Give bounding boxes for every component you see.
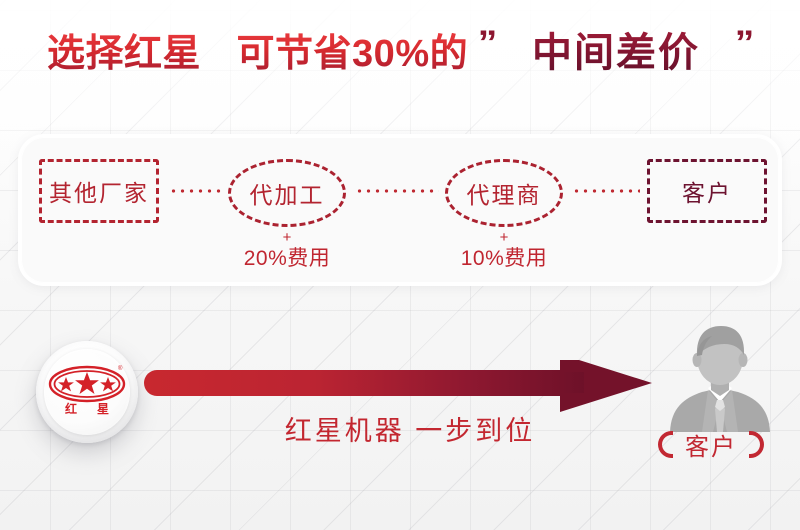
supply-chain-panel: 其他厂家 代加工 + 20%费用 代理商 + 10%费用 客户 [18,134,782,286]
headline-part2: 可节省30%的 [237,33,469,75]
headline-emphasis: 中间差价 [532,31,700,75]
supply-chain-flow: 其他厂家 代加工 + 20%费用 代理商 + 10%费用 客户 [21,137,779,283]
flow-node-other-factory: 其他厂家 [39,159,159,223]
customer-label-group: 客户 [636,427,786,461]
bracket-left-icon [658,431,673,458]
svg-text:红: 红 [65,401,77,416]
svg-text:星: 星 [97,402,109,416]
flow-connector-1 [169,189,221,193]
flow-connector-3 [572,189,640,193]
fee-amount: 10%费用 [434,247,574,271]
flow-node-label: 其他厂家 [49,174,149,208]
quote-close-icon: ” [734,22,754,65]
flow-node-label: 客户 [682,174,732,208]
flow-node-oem: 代加工 [228,159,346,227]
flow-node-label: 代加工 [250,176,325,210]
headline: 选择红星 可节省30%的 ” 中间差价 ” [0,28,800,79]
headline-part1: 选择红星 [47,33,201,75]
customer-person-icon [664,322,776,432]
flow-node-label: 代理商 [467,176,542,210]
bracket-right-icon [749,431,764,458]
flow-node-customer: 客户 [647,159,767,223]
plus-sign: + [217,229,357,246]
customer-label: 客户 [685,427,737,462]
flow-fee-oem: + 20%费用 [217,229,357,271]
flow-connector-2 [355,189,439,193]
flow-node-agent: 代理商 [445,159,563,227]
hongxing-logo-badge: ® 红 星 [36,341,138,443]
flow-fee-agent: + 10%费用 [434,229,574,271]
fee-amount: 20%费用 [217,247,357,271]
plus-sign: + [434,229,574,246]
infographic-canvas: 选择红星 可节省30%的 ” 中间差价 ” 其他厂家 代加工 + 20%费用 代… [0,0,800,530]
svg-text:®: ® [118,365,123,372]
hongxing-logo-icon: ® 红 星 [45,362,129,422]
quote-open-icon: ” [478,22,498,65]
arrow-caption: 红星机器 一步到位 [180,409,640,448]
